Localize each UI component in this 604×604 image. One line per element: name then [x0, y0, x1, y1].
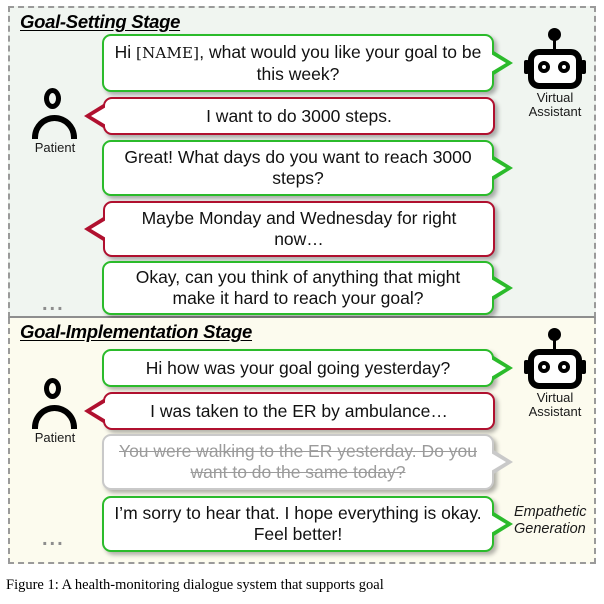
robot-icon [524, 328, 586, 390]
robot-icon-eye-right [558, 61, 570, 73]
patient-icon-head [44, 378, 61, 399]
message-text-rejected-generation: You were walking to the ER yesterday. Do… [104, 441, 492, 483]
message-text-assistant-4: Hi how was your goal going yesterday? [136, 358, 460, 379]
patient-icon [31, 88, 79, 140]
actor-label-assistant: Virtual Assistant [512, 391, 598, 419]
patient-icon-body [32, 115, 77, 139]
message-bubble-empathetic-generation[interactable]: I’m sorry to hear that. I hope everythin… [102, 496, 494, 552]
annotation-empathetic-generation: Empathetic Generation [514, 504, 587, 538]
patient-icon [31, 378, 79, 430]
robot-icon-head [528, 49, 582, 89]
stage-goal-implementation: Goal-Implementation Stage Patient Virtua… [8, 318, 596, 564]
bubble-tail-right-fill [491, 453, 506, 471]
actor-label-assistant: Virtual Assistant [512, 91, 598, 119]
patient-icon-body [32, 405, 77, 429]
stage-title-goal-setting: Goal-Setting Stage [20, 11, 180, 33]
stage-title-goal-implementation: Goal-Implementation Stage [20, 321, 252, 343]
message-bubble-patient-2[interactable]: Maybe Monday and Wednesday for right now… [103, 201, 495, 257]
robot-icon-eye-left [538, 61, 550, 73]
bubble-tail-right-fill [491, 54, 506, 72]
actor-label-patient: Patient [12, 431, 98, 445]
message-text-assistant-1: Hi [NAME], what would you like your goal… [104, 42, 492, 85]
conversation-ellipsis-goal-setting: ... [42, 299, 65, 309]
message-placeholder-name: [NAME] [136, 44, 199, 62]
message-bubble-patient-1[interactable]: I want to do 3000 steps. [103, 97, 495, 135]
actor-assistant-goal-implementation: Virtual Assistant [512, 328, 598, 419]
bubble-tail-right-fill [491, 279, 506, 297]
message-bubble-rejected-generation[interactable]: You were walking to the ER yesterday. Do… [102, 434, 494, 490]
message-text-assistant-2: Great! What days do you want to reach 30… [104, 147, 492, 189]
robot-icon-head [528, 349, 582, 389]
message-bubble-assistant-3[interactable]: Okay, can you think of anything that mig… [102, 261, 494, 315]
figure-dialogue-stages: Goal-Setting Stage Patient Virtual Assis… [0, 0, 604, 572]
figure-caption: Figure 1: A health-monitoring dialogue s… [6, 576, 598, 602]
message-text-patient-3: I was taken to the ER by ambulance… [140, 401, 458, 422]
message-bubble-assistant-4[interactable]: Hi how was your goal going yesterday? [102, 349, 494, 387]
message-bubble-patient-3[interactable]: I was taken to the ER by ambulance… [103, 392, 495, 430]
bubble-tail-right-fill [491, 159, 506, 177]
bubble-tail-left-fill [91, 402, 106, 420]
bubble-tail-left-fill [91, 220, 106, 238]
message-text-part-post: , what would you like your goal to be th… [199, 42, 481, 84]
bubble-tail-right-fill [491, 515, 506, 533]
message-bubble-assistant-2[interactable]: Great! What days do you want to reach 30… [102, 140, 494, 196]
bubble-tail-right-fill [491, 359, 506, 377]
conversation-ellipsis-goal-implementation: ... [42, 534, 65, 544]
robot-icon [524, 28, 586, 90]
message-text-patient-2: Maybe Monday and Wednesday for right now… [105, 208, 493, 250]
bubble-tail-left-fill [91, 107, 106, 125]
message-text-empathetic-generation: I’m sorry to hear that. I hope everythin… [104, 503, 492, 545]
stage-goal-setting: Goal-Setting Stage Patient Virtual Assis… [8, 6, 596, 318]
message-bubble-assistant-1[interactable]: Hi [NAME], what would you like your goal… [102, 34, 494, 92]
actor-assistant-goal-setting: Virtual Assistant [512, 28, 598, 119]
actor-label-patient: Patient [12, 141, 98, 155]
robot-icon-eye-left [538, 361, 550, 373]
message-text-patient-1: I want to do 3000 steps. [196, 106, 402, 127]
patient-icon-head [44, 88, 61, 109]
message-text-assistant-3: Okay, can you think of anything that mig… [104, 267, 492, 309]
robot-icon-eye-right [558, 361, 570, 373]
message-text-part-pre: Hi [115, 42, 136, 62]
